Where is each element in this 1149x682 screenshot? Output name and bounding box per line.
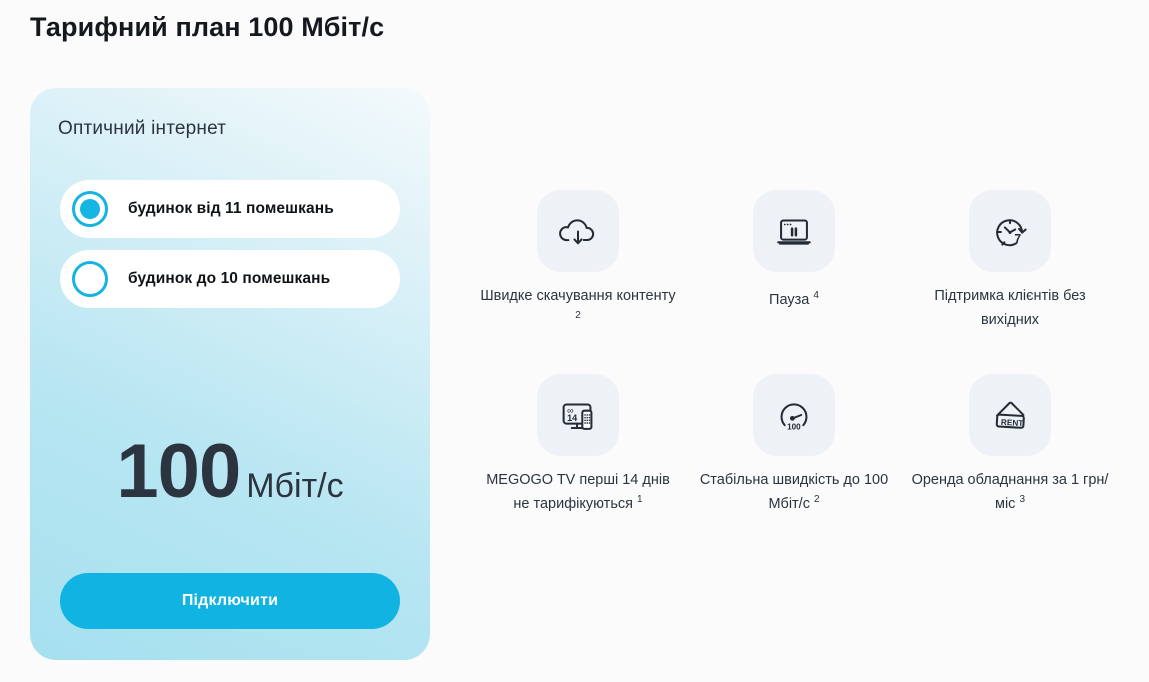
clock-seven-days-icon: 7 [969, 190, 1051, 272]
footnote-marker: 2 [575, 310, 581, 321]
rent-text: RENT [1001, 418, 1024, 428]
plan-speed-unit: Мбіт/с [246, 467, 343, 505]
page-title: Тарифний план 100 Мбіт/с [30, 12, 384, 43]
feature-support-7-days: 7 Підтримка клієнтів без вихідних [902, 190, 1118, 330]
features-row-2: ∞ 14 MEGOGO TV перші 14 днів не тарифіку… [470, 374, 1120, 514]
tv-days-text: 14 [567, 413, 578, 423]
radio-dot [80, 199, 100, 219]
feature-label-equipment-rent: Оренда обладнання за 1 грн/міс 3 [910, 470, 1110, 514]
connection-type-options: будинок від 11 помешкань будинок до 10 п… [60, 180, 400, 320]
radio-dot [80, 269, 100, 289]
laptop-pause-icon [753, 190, 835, 272]
feature-label-fast-download: Швидке скачування контенту 2 [478, 286, 678, 330]
option-row-house-from-11[interactable]: будинок від 11 помешкань [60, 180, 400, 238]
footnote-marker: 4 [813, 290, 819, 301]
feature-label-stable-speed: Стабільна швидкість до 100 Мбіт/с 2 [694, 470, 894, 514]
feature-label-support-7-days: Підтримка клієнтів без вихідних [910, 286, 1110, 330]
option-label-house-up-to-10: будинок до 10 помешкань [128, 270, 330, 288]
radio-house-up-to-10[interactable] [72, 261, 108, 297]
feature-label-megogo-tv: MEGOGO TV перші 14 днів не тарифікуються… [478, 470, 678, 514]
feature-equipment-rent: RENT Оренда обладнання за 1 грн/міс 3 [902, 374, 1118, 514]
radio-house-from-11[interactable] [72, 191, 108, 227]
speedometer-text: 100 [787, 423, 801, 432]
feature-pause: Пауза 4 [686, 190, 902, 330]
features-grid: Швидке скачування контенту 2 Пауза 4 [470, 190, 1120, 514]
footnote-marker: 2 [814, 494, 820, 505]
option-row-house-up-to-10[interactable]: будинок до 10 помешкань [60, 250, 400, 308]
feature-megogo-tv: ∞ 14 MEGOGO TV перші 14 днів не тарифіку… [470, 374, 686, 514]
footnote-marker: 3 [1019, 494, 1025, 505]
option-label-house-from-11: будинок від 11 помешкань [128, 200, 334, 218]
cloud-download-icon [537, 190, 619, 272]
footnote-marker: 1 [637, 494, 643, 505]
plan-speed-value: 100 [116, 429, 240, 514]
plan-card: Оптичний інтернет будинок від 11 помешка… [30, 88, 430, 660]
feature-fast-download: Швидке скачування контенту 2 [470, 190, 686, 330]
tv-infinity-14-icon: ∞ 14 [537, 374, 619, 456]
feature-stable-speed: 100 Стабільна швидкість до 100 Мбіт/с 2 [686, 374, 902, 514]
features-row-spacer [470, 330, 1120, 374]
feature-label-pause: Пауза 4 [694, 286, 894, 310]
connect-button[interactable]: Підключити [60, 573, 400, 629]
clock-days-text: 7 [1014, 232, 1021, 246]
rent-sign-icon: RENT [969, 374, 1051, 456]
features-row-1: Швидке скачування контенту 2 Пауза 4 [470, 190, 1120, 330]
plan-speed: 100Мбіт/с [30, 428, 430, 515]
plan-card-heading: Оптичний інтернет [58, 118, 226, 140]
speedometer-100-icon: 100 [753, 374, 835, 456]
